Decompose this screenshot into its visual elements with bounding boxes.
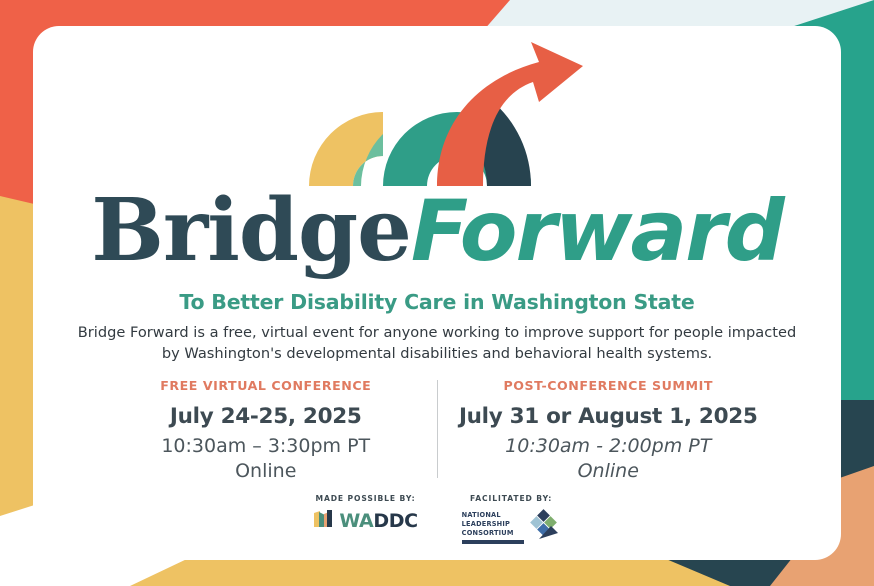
content-card: BridgeForward To Better Disability Care …: [33, 26, 841, 560]
column-divider: [437, 380, 438, 478]
sponsor-label: MADE POSSIBLE BY:: [313, 494, 417, 503]
event-date: July 24-25, 2025: [113, 404, 419, 429]
description-text: Bridge Forward is a free, virtual event …: [72, 322, 802, 364]
bridge-arch-arrow-icon: [287, 38, 587, 188]
facilitator-block: FACILITATED BY: NATIONAL LEADERSHIP CONS…: [462, 494, 561, 546]
national-leadership-consortium-logo-icon: [527, 509, 561, 546]
event-location: Online: [113, 460, 419, 482]
wordmark-bridge: Bridge: [91, 180, 411, 281]
subtitle: To Better Disability Care in Washington …: [33, 290, 841, 314]
event-time: 10:30am – 3:30pm PT: [113, 435, 419, 457]
footer-logos: MADE POSSIBLE BY: WADDC: [33, 494, 841, 546]
event-location: Online: [456, 460, 762, 482]
event-time: 10:30am - 2:00pm PT: [456, 435, 762, 457]
nlc-line-1: NATIONAL: [462, 511, 524, 520]
event-kicker: POST-CONFERENCE SUMMIT: [456, 378, 762, 393]
nlc-line-3: CONSORTIUM: [462, 529, 524, 538]
nlc-underline-rule: [462, 540, 524, 544]
waddc-logo-icon: [313, 509, 335, 534]
page-title: BridgeForward: [33, 188, 841, 274]
event-column-summit: POST-CONFERENCE SUMMIT July 31 or August…: [450, 378, 768, 482]
sponsor-block: MADE POSSIBLE BY: WADDC: [313, 494, 417, 534]
waddc-name-ddc: DDC: [373, 510, 417, 532]
waddc-logo[interactable]: WADDC: [313, 509, 417, 534]
wordmark-forward: Forward: [411, 182, 783, 280]
national-leadership-consortium-logo[interactable]: NATIONAL LEADERSHIP CONSORTIUM: [462, 509, 561, 546]
event-kicker: FREE VIRTUAL CONFERENCE: [113, 378, 419, 393]
waddc-name-wa: WA: [339, 510, 373, 532]
event-column-conference: FREE VIRTUAL CONFERENCE July 24-25, 2025…: [107, 378, 425, 482]
facilitator-label: FACILITATED BY:: [462, 494, 561, 503]
event-flyer: BridgeForward To Better Disability Care …: [0, 0, 874, 586]
event-details: FREE VIRTUAL CONFERENCE July 24-25, 2025…: [107, 378, 767, 482]
event-date: July 31 or August 1, 2025: [456, 404, 762, 429]
nlc-line-2: LEADERSHIP: [462, 520, 524, 529]
